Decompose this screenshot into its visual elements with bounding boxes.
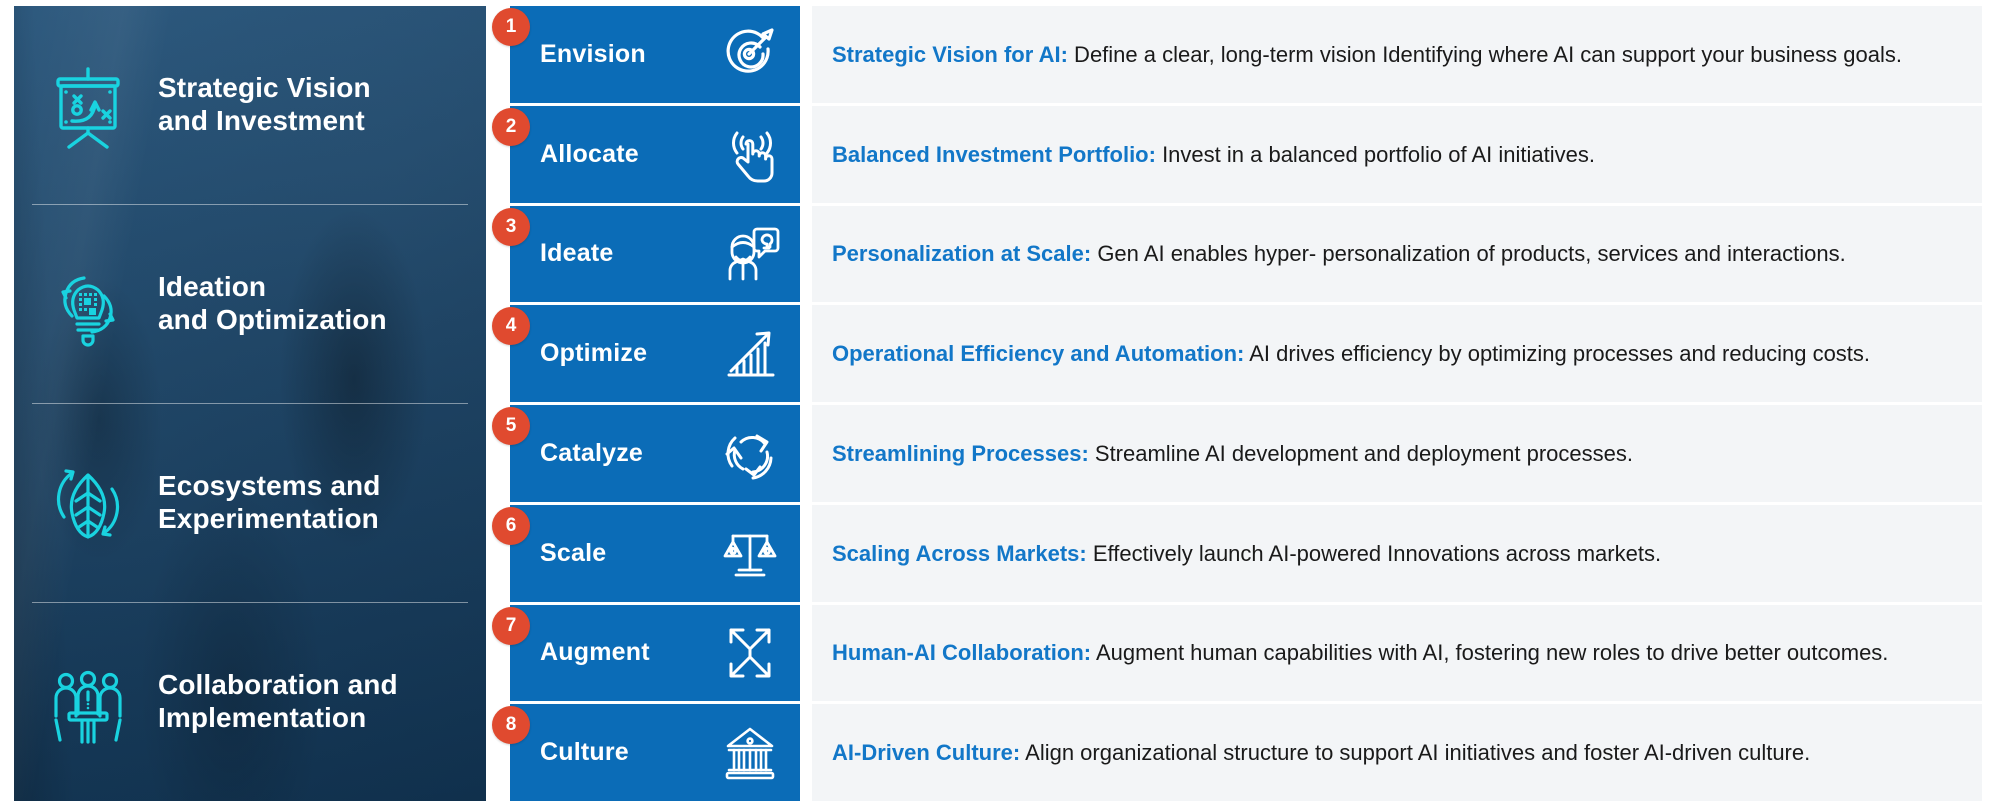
description-body: Augment human capabilities with AI, fost… [1091,640,1888,665]
pillar-label: Strategic Vision and Investment [158,72,371,138]
description-text: Strategic Vision for AI: Define a clear,… [832,39,1902,70]
description-text: Balanced Investment Portfolio: Invest in… [832,139,1595,170]
description-lead: Strategic Vision for AI: [832,42,1068,67]
step-number-badge: 3 [492,208,530,246]
step-number-badge: 8 [492,706,530,744]
description-body: Align organizational structure to suppor… [1020,740,1810,765]
person-idea-bubble-icon [718,222,782,286]
description-lead: Balanced Investment Portfolio: [832,142,1156,167]
lightbulb-chip-icon [36,252,140,356]
growth-bar-chart-icon [718,322,782,386]
strategy-board-icon [36,53,140,157]
description-body: Invest in a balanced portfolio of AI ini… [1156,142,1595,167]
pillar-item-ideation: Ideation and Optimization [32,204,468,403]
recycle-arrows-icon [718,421,782,485]
step-title-bar[interactable]: Scale [510,505,800,602]
step-row[interactable]: 6 Scale [492,505,1982,602]
leaf-cycle-icon [36,451,140,555]
pillar-item-strategic-vision: Strategic Vision and Investment [14,6,486,204]
pillar-item-collaboration: Collaboration and Implementation [32,602,468,801]
step-title-bar[interactable]: Catalyze [510,405,800,502]
tap-hand-icon [718,122,782,186]
description-text: Human-AI Collaboration: Augment human ca… [832,637,1888,668]
step-name: Culture [540,740,629,765]
step-row[interactable]: 1 Envision Strategic Vision for AI: Defi… [492,6,1982,103]
description-lead: Operational Efficiency and Automation: [832,341,1244,366]
four-way-arrows-icon [718,621,782,685]
step-description: Scaling Across Markets: Effectively laun… [812,505,1982,602]
description-lead: AI-Driven Culture: [832,740,1020,765]
description-text: Streamlining Processes: Streamline AI de… [832,438,1633,469]
description-text: Operational Efficiency and Automation: A… [832,338,1870,369]
step-description: Human-AI Collaboration: Augment human ca… [812,605,1982,702]
description-lead: Streamlining Processes: [832,441,1089,466]
step-number-badge: 2 [492,108,530,146]
step-row[interactable]: 4 Optimize [492,305,1982,402]
pillars-panel: Strategic Vision and Investment [0,0,492,807]
step-description: Personalization at Scale: Gen AI enables… [812,206,1982,303]
step-title-bar[interactable]: Allocate [510,106,800,203]
step-title-bar[interactable]: Augment [510,605,800,702]
pillar-label: Ecosystems and Experimentation [158,470,380,536]
step-number-badge: 6 [492,507,530,545]
description-text: Scaling Across Markets: Effectively laun… [832,538,1661,569]
step-title-bar[interactable]: Ideate [510,206,800,303]
step-number-badge: 1 [492,8,530,46]
step-number-badge: 7 [492,607,530,645]
pillars-panel-background: Strategic Vision and Investment [14,6,486,801]
step-name: Ideate [540,241,613,266]
description-text: Personalization at Scale: Gen AI enables… [832,238,1846,269]
step-name: Optimize [540,341,647,366]
step-row[interactable]: 8 Culture [492,704,1982,801]
description-body: Gen AI enables hyper- personalization of… [1091,241,1846,266]
ai-adoption-framework-infographic: Strategic Vision and Investment [0,0,2000,807]
step-name: Allocate [540,142,639,167]
step-row[interactable]: 2 Allocate Balanced Investment Portfolio… [492,106,1982,203]
description-text: AI-Driven Culture: Align organizational … [832,737,1810,768]
description-body: Effectively launch AI-powered Innovation… [1087,541,1661,566]
step-description: Operational Efficiency and Automation: A… [812,305,1982,402]
target-dart-icon [718,22,782,86]
step-name: Augment [540,640,650,665]
step-description: AI-Driven Culture: Align organizational … [812,704,1982,801]
step-name: Catalyze [540,441,643,466]
team-table-icon [36,650,140,754]
description-body: Define a clear, long-term vision Identif… [1068,42,1902,67]
step-title-bar[interactable]: Culture [510,704,800,801]
pillar-label: Collaboration and Implementation [158,669,398,735]
description-lead: Scaling Across Markets: [832,541,1087,566]
step-title-bar[interactable]: Optimize [510,305,800,402]
step-name: Scale [540,541,606,566]
step-description: Streamlining Processes: Streamline AI de… [812,405,1982,502]
step-row[interactable]: 5 Catalyze [492,405,1982,502]
step-title-bar[interactable]: Envision [510,6,800,103]
description-body: AI drives efficiency by optimizing proce… [1244,341,1870,366]
step-name: Envision [540,42,646,67]
step-number-badge: 5 [492,407,530,445]
pillar-label: Ideation and Optimization [158,271,387,337]
description-lead: Human-AI Collaboration: [832,640,1091,665]
step-row[interactable]: 7 Augment Human-AI Collaboration: Augmen… [492,605,1982,702]
step-description: Strategic Vision for AI: Define a clear,… [812,6,1982,103]
description-body: Streamline AI development and deployment… [1089,441,1633,466]
step-number-badge: 4 [492,307,530,345]
pillar-item-ecosystems: Ecosystems and Experimentation [32,403,468,602]
institution-building-icon [718,721,782,785]
step-row[interactable]: 3 Ideate [492,206,1982,303]
step-description: Balanced Investment Portfolio: Invest in… [812,106,1982,203]
description-lead: Personalization at Scale: [832,241,1091,266]
steps-list: 1 Envision Strategic Vision for AI: Defi… [492,0,2000,807]
balance-scale-icon [718,521,782,585]
